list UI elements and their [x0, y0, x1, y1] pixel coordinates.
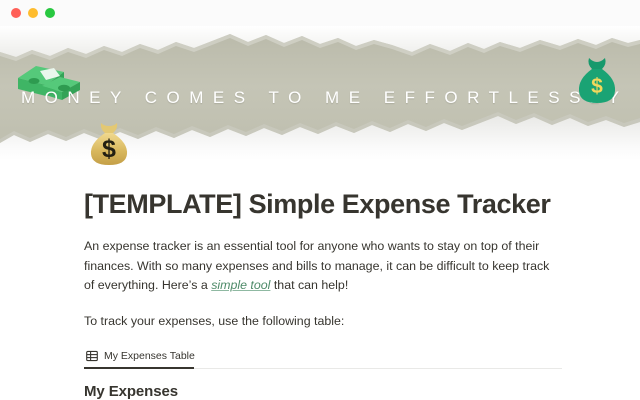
banner-affirmation-text: MONEY COMES TO ME EFFORTLESSLY: [0, 88, 640, 108]
instruction-paragraph: To track your expenses, use the followin…: [84, 312, 562, 331]
window-titlebar: [0, 0, 640, 26]
money-bag-icon: $: [572, 54, 622, 106]
database-tab-strip: My Expenses Table: [84, 345, 562, 369]
close-window-button[interactable]: [11, 8, 21, 18]
tab-strip-divider: [194, 368, 562, 369]
intro-paragraph: An expense tracker is an essential tool …: [84, 237, 554, 296]
intro-text-part2: that can help!: [270, 278, 348, 292]
traffic-light-group: [11, 8, 55, 18]
svg-text:$: $: [102, 135, 116, 163]
page-emoji-icon[interactable]: $: [84, 118, 134, 168]
simple-tool-link[interactable]: simple tool: [211, 278, 270, 292]
page-title[interactable]: [TEMPLATE] Simple Expense Tracker: [84, 188, 562, 220]
database-title[interactable]: My Expenses: [84, 383, 562, 400]
tab-active-indicator: [84, 367, 194, 369]
svg-text:$: $: [591, 75, 603, 98]
tab-my-expenses-table[interactable]: My Expenses Table: [84, 345, 201, 367]
app-window: MONEY COMES TO ME EFFORTLESSLY $ $: [0, 0, 640, 400]
tab-label: My Expenses Table: [104, 350, 195, 362]
page-content: [TEMPLATE] Simple Expense Tracker An exp…: [0, 160, 640, 400]
minimize-window-button[interactable]: [28, 8, 38, 18]
maximize-window-button[interactable]: [45, 8, 55, 18]
table-grid-icon: [86, 350, 98, 362]
